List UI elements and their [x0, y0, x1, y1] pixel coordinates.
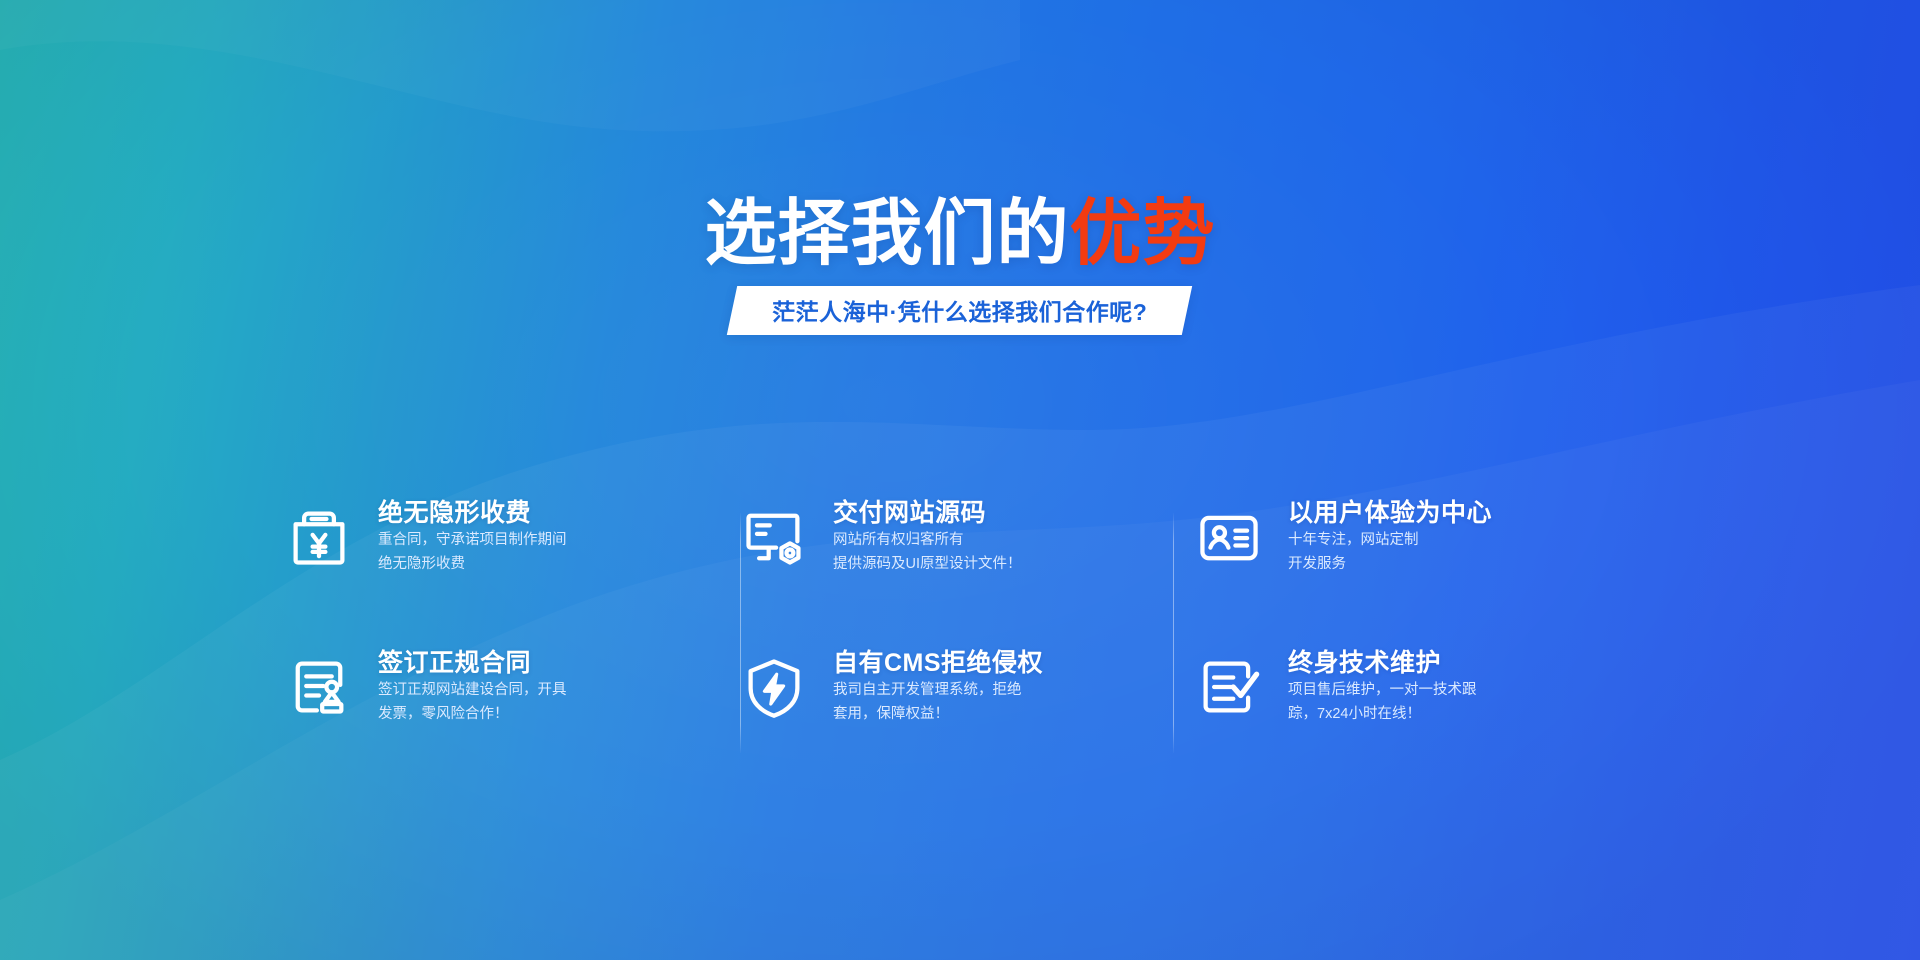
feature-item-deliver-source-code[interactable]: 交付网站源码 网站所有权归客所有 提供源码及UI原型设计文件！: [737, 490, 1167, 640]
shield-bolt-icon: [737, 650, 811, 724]
heading-block: 选择我们的优势 茫茫人海中·凭什么选择我们合作呢?: [0, 196, 1920, 335]
feature-desc-line: 开发服务: [1288, 553, 1492, 576]
feature-item-user-experience-center[interactable]: 以用户体验为中心 十年专注，网站定制 开发服务: [1192, 490, 1622, 640]
feature-description: 十年专注，网站定制 开发服务: [1288, 529, 1492, 576]
feature-desc-line: 踪，7x24小时在线！: [1288, 703, 1477, 726]
feature-title: 自有CMS拒绝侵权: [833, 649, 1043, 677]
feature-description: 网站所有权归客所有 提供源码及UI原型设计文件！: [833, 529, 1022, 576]
contract-stamp-icon: [282, 650, 356, 724]
feature-desc-line: 项目售后维护，一对一技术跟: [1288, 679, 1477, 702]
feature-grid: 绝无隐形收费 重合同，守承诺项目制作期间 绝无隐形收费: [282, 490, 1652, 780]
feature-item-own-cms[interactable]: 自有CMS拒绝侵权 我司自主开发管理系统，拒绝 套用，保障权益！: [737, 640, 1167, 790]
feature-item-formal-contract[interactable]: 签订正规合同 签订正规网站建设合同，开具 发票，零风险合作！: [282, 640, 712, 790]
feature-description: 签订正规网站建设合同，开具 发票，零风险合作！: [378, 679, 567, 726]
feature-desc-line: 网站所有权归客所有: [833, 529, 1022, 552]
feature-desc-line: 重合同，守承诺项目制作期间: [378, 529, 567, 552]
feature-desc-line: 我司自主开发管理系统，拒绝: [833, 679, 1043, 702]
feature-description: 项目售后维护，一对一技术跟 踪，7x24小时在线！: [1288, 679, 1477, 726]
feature-title: 终身技术维护: [1288, 649, 1441, 677]
feature-title: 交付网站源码: [833, 499, 986, 527]
subtitle-banner: 茫茫人海中·凭什么选择我们合作呢?: [727, 286, 1193, 335]
feature-title: 签订正规合同: [378, 649, 531, 677]
document-check-icon: [1192, 650, 1266, 724]
page-title-accent: 优势: [1070, 194, 1216, 274]
feature-item-no-hidden-fees[interactable]: 绝无隐形收费 重合同，守承诺项目制作期间 绝无隐形收费: [282, 490, 712, 640]
feature-desc-line: 提供源码及UI原型设计文件！: [833, 553, 1022, 576]
feature-title: 绝无隐形收费: [378, 499, 531, 527]
monitor-gear-icon: [737, 500, 811, 574]
feature-desc-line: 绝无隐形收费: [378, 553, 567, 576]
briefcase-yen-icon: [282, 500, 356, 574]
subtitle-text: 茫茫人海中·凭什么选择我们合作呢?: [772, 293, 1147, 327]
feature-item-lifetime-maintenance[interactable]: 终身技术维护 项目售后维护，一对一技术跟 踪，7x24小时在线！: [1192, 640, 1622, 790]
feature-desc-line: 十年专注，网站定制: [1288, 529, 1492, 552]
feature-desc-line: 签订正规网站建设合同，开具: [378, 679, 567, 702]
feature-desc-line: 发票，零风险合作！: [378, 703, 567, 726]
feature-description: 我司自主开发管理系统，拒绝 套用，保障权益！: [833, 679, 1043, 726]
page-title: 选择我们的优势: [704, 196, 1215, 272]
feature-description: 重合同，守承诺项目制作期间 绝无隐形收费: [378, 529, 567, 576]
feature-desc-line: 套用，保障权益！: [833, 703, 1043, 726]
id-card-icon: [1192, 500, 1266, 574]
page-title-main: 选择我们的: [704, 194, 1069, 274]
feature-title: 以用户体验为中心: [1288, 499, 1492, 527]
